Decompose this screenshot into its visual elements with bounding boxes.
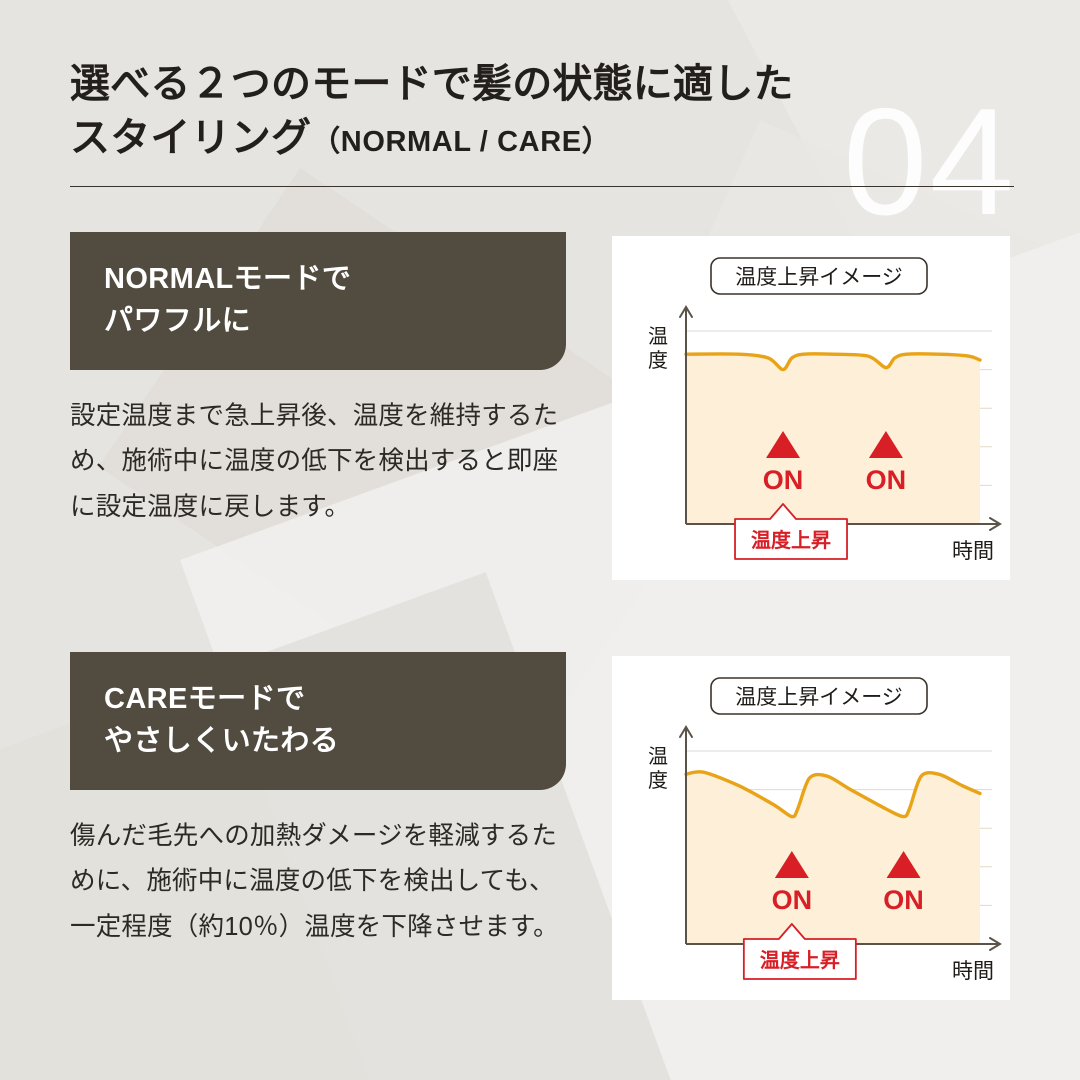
mode-heading-care-line2: やさしくいたわる: [104, 720, 536, 762]
infographic-page: 04 選べる２つのモードで髪の状態に適した スタイリング（NORMAL / CA…: [0, 0, 1080, 1080]
chart-x-axis-label: 時間: [952, 540, 994, 563]
chart-area-fill: [686, 772, 980, 944]
chart-y-axis-label: 温度: [648, 745, 668, 792]
chart-callout-label: 温度上昇: [751, 528, 831, 552]
chart-title: 温度上昇イメージ: [735, 266, 903, 289]
mode-heading-care: CAREモードで やさしくいたわる: [70, 652, 566, 790]
mode-heading-care-line1: CAREモードで: [104, 683, 305, 715]
chart-normal-plot: 温度上昇イメージ温度時間ONON温度上昇: [648, 258, 1000, 563]
chart-area-fill: [686, 354, 980, 524]
page-title: 選べる２つのモードで髪の状態に適した スタイリング（NORMAL / CARE）: [70, 58, 1014, 165]
chart-y-axis-label: 温度: [648, 325, 668, 372]
page-title-suffix: （NORMAL / CARE）: [311, 126, 611, 158]
page-title-line2: スタイリング: [70, 116, 311, 160]
mode-block-normal: NORMALモードで パワフルに 設定温度まで急上昇後、温度を維持するため、施術…: [70, 232, 566, 556]
chart-on-marker-label: ON: [763, 465, 804, 495]
mode-heading-normal: NORMALモードで パワフルに: [70, 232, 566, 370]
header-divider: [70, 186, 1014, 187]
mode-body-normal: 設定温度まで急上昇後、温度を維持するため、施術中に温度の低下を検出すると即座に設…: [70, 394, 566, 530]
chart-card-care: 温度上昇イメージ温度時間ONON温度上昇: [612, 656, 1010, 1000]
chart-x-axis-label: 時間: [952, 960, 994, 983]
mode-heading-normal-line2: パワフルに: [104, 300, 536, 342]
chart-normal: 温度上昇イメージ温度時間ONON温度上昇: [612, 236, 1010, 580]
mode-block-care: CAREモードで やさしくいたわる 傷んだ毛先への加熱ダメージを軽減するために、…: [70, 652, 566, 976]
chart-callout-label: 温度上昇: [760, 948, 840, 972]
chart-title: 温度上昇イメージ: [735, 686, 903, 709]
chart-care: 温度上昇イメージ温度時間ONON温度上昇: [612, 656, 1010, 1000]
chart-on-marker-label: ON: [866, 465, 907, 495]
chart-care-svg: 温度上昇イメージ温度時間ONON温度上昇: [612, 656, 1010, 1000]
chart-card-normal: 温度上昇イメージ温度時間ONON温度上昇: [612, 236, 1010, 580]
chart-on-marker-label: ON: [772, 885, 813, 915]
mode-body-care: 傷んだ毛先への加熱ダメージを軽減するために、施術中に温度の低下を検出しても、一定…: [70, 814, 566, 950]
chart-on-marker-label: ON: [883, 885, 924, 915]
mode-heading-normal-line1: NORMALモードで: [104, 263, 351, 295]
page-header: 04 選べる２つのモードで髪の状態に適した スタイリング（NORMAL / CA…: [70, 58, 1014, 165]
chart-care-plot: 温度上昇イメージ温度時間ONON温度上昇: [648, 678, 1000, 983]
page-title-line1: 選べる２つのモードで髪の状態に適した: [70, 62, 794, 106]
chart-normal-svg: 温度上昇イメージ温度時間ONON温度上昇: [612, 236, 1010, 580]
